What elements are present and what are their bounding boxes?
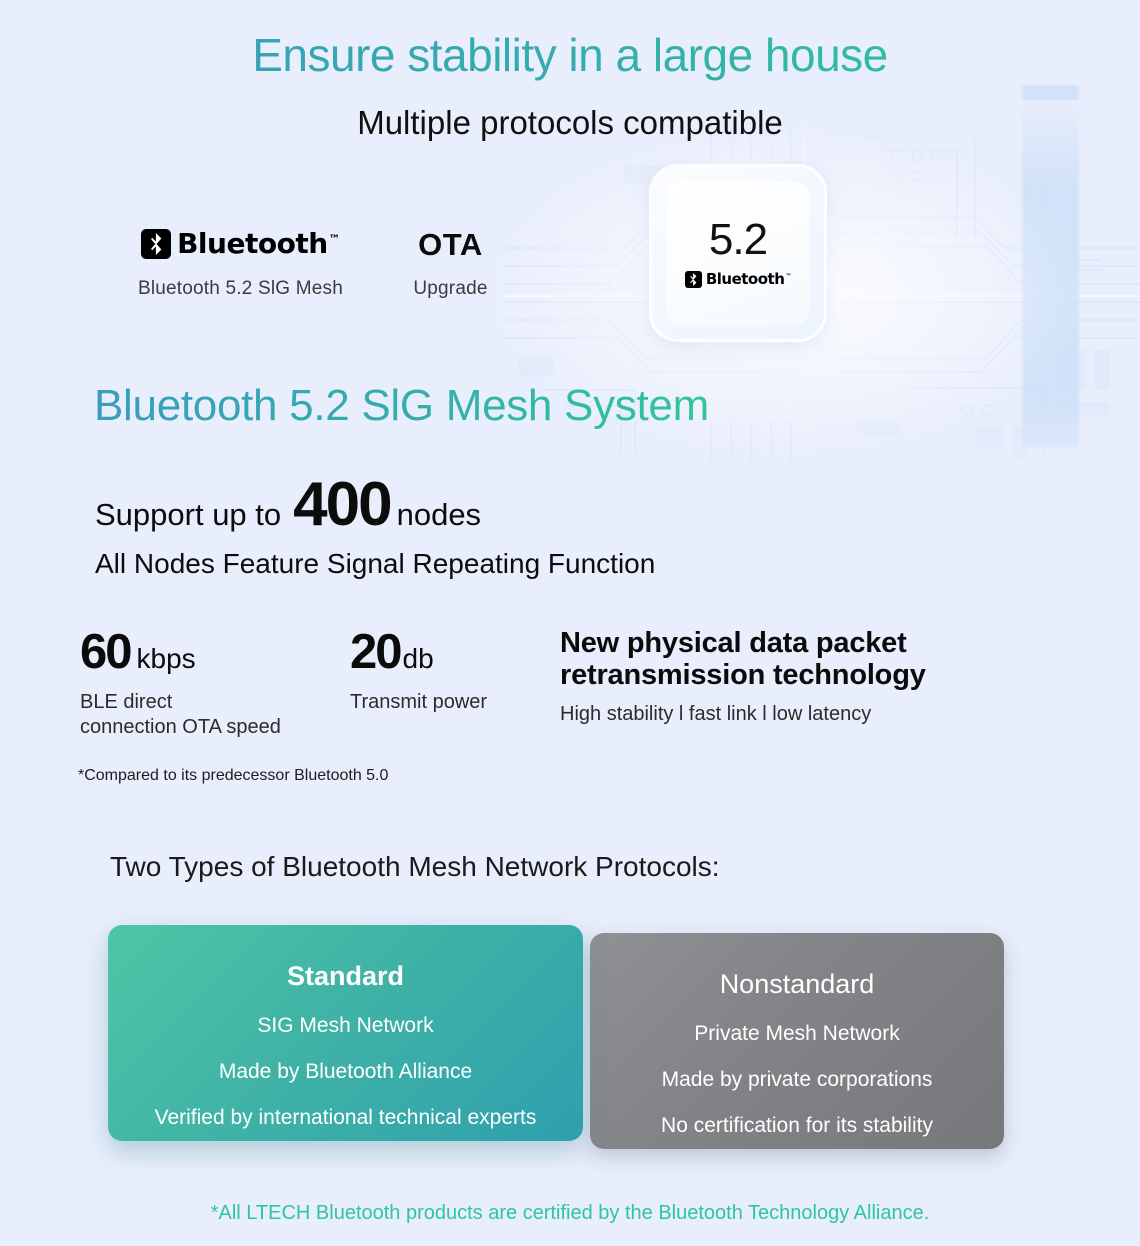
- spec-item-power: 20 db Transmit power: [350, 628, 570, 715]
- spec-unit: db: [403, 645, 434, 673]
- spec-feature-heading: New physical data packet retransmission …: [560, 628, 1080, 692]
- card-standard: Standard SIG Mesh Network Made by Blueto…: [108, 925, 583, 1141]
- spec-caption-line1: BLE direct: [80, 690, 330, 715]
- nodes-support-line: Support up to 400 nodes: [95, 474, 481, 536]
- spec-caption-line1: Transmit power: [350, 690, 570, 715]
- spec-caption-line2: connection OTA speed: [80, 715, 330, 740]
- background-white-wash: [460, 100, 1140, 500]
- trademark-mark: ™: [329, 232, 340, 246]
- chip-glow: [636, 151, 840, 355]
- page-subtitle: Multiple protocols compatible: [0, 104, 1140, 142]
- spec-caption-power: Transmit power: [350, 690, 570, 715]
- protocol-type-cards: Nonstandard Private Mesh Network Made by…: [0, 925, 1140, 1155]
- bluetooth-icon: [141, 229, 171, 259]
- protocol-row: Bluetooth™ Bluetooth 5.2 SlG Mesh OTA Up…: [108, 222, 528, 300]
- bluetooth-wordmark: Bluetooth™: [177, 230, 340, 258]
- card-title-nonstandard: Nonstandard: [590, 969, 1004, 1000]
- spec-item-retransmission: New physical data packet retransmission …: [560, 628, 1080, 726]
- spec-number: 60: [80, 628, 131, 677]
- card-line: Private Mesh Network: [590, 1022, 1004, 1046]
- chip-version-label: 5.2: [709, 218, 767, 262]
- certification-footer-note: *All LTECH Bluetooth products are certif…: [0, 1202, 1140, 1225]
- nodes-count: 400: [293, 474, 390, 536]
- mesh-system-heading: Bluetooth 5.2 SlG Mesh System: [94, 381, 709, 431]
- spec-item-speed: 60 kbps BLE direct connection OTA speed: [80, 628, 330, 740]
- spec-feature-heading-line2: retransmission technology: [560, 660, 1080, 692]
- protocol-caption-bluetooth: Bluetooth 5.2 SlG Mesh: [108, 278, 373, 300]
- spec-value-speed: 60 kbps: [80, 628, 330, 677]
- protocol-caption-ota: Upgrade: [373, 278, 528, 300]
- bluetooth-wordmark: Bluetooth™: [706, 272, 791, 287]
- spec-number: 20: [350, 628, 401, 677]
- ota-title: OTA: [418, 229, 483, 260]
- card-line: Made by Bluetooth Alliance: [108, 1060, 583, 1084]
- nodes-suffix: nodes: [397, 497, 481, 533]
- marketing-infographic-page: 5.2 Bluetooth™ Ensure stability in a lar…: [0, 0, 1140, 1246]
- comparison-footnote: *Compared to its predecessor Bluetooth 5…: [78, 767, 388, 785]
- card-nonstandard: Nonstandard Private Mesh Network Made by…: [590, 933, 1004, 1149]
- bluetooth-chip-graphic: 5.2 Bluetooth™: [652, 167, 824, 339]
- bluetooth-lockup: Bluetooth™: [141, 229, 340, 259]
- chip-body: 5.2 Bluetooth™: [652, 167, 824, 339]
- spec-value-power: 20 db: [350, 628, 570, 677]
- bluetooth-logo-small: Bluetooth™: [685, 271, 791, 288]
- bluetooth-icon: [685, 271, 702, 288]
- card-line: Made by private corporations: [590, 1068, 1004, 1092]
- trademark-mark: ™: [785, 273, 791, 280]
- chip-face: 5.2 Bluetooth™: [666, 181, 810, 325]
- protocol-item-bluetooth: Bluetooth™ Bluetooth 5.2 SlG Mesh: [108, 222, 373, 300]
- card-title-standard: Standard: [108, 961, 583, 992]
- ota-title-wrap: OTA: [373, 222, 528, 266]
- card-line: No certification for its stability: [590, 1114, 1004, 1138]
- page-title: Ensure stability in a large house: [0, 28, 1140, 82]
- protocol-item-ota: OTA Upgrade: [373, 222, 528, 300]
- bluetooth-logo-large: Bluetooth™: [108, 222, 373, 266]
- card-line: Verified by international technical expe…: [108, 1106, 583, 1130]
- spec-unit: kbps: [137, 645, 196, 673]
- card-line: SIG Mesh Network: [108, 1014, 583, 1038]
- spec-caption-speed: BLE direct connection OTA speed: [80, 690, 330, 740]
- spec-feature-heading-line1: New physical data packet: [560, 628, 1080, 660]
- types-heading: Two Types of Bluetooth Mesh Network Prot…: [110, 851, 720, 883]
- nodes-subtitle: All Nodes Feature Signal Repeating Funct…: [95, 548, 655, 580]
- nodes-prefix: Support up to: [95, 497, 281, 533]
- spec-feature-subtitle: High stability l fast link l low latency: [560, 703, 1080, 726]
